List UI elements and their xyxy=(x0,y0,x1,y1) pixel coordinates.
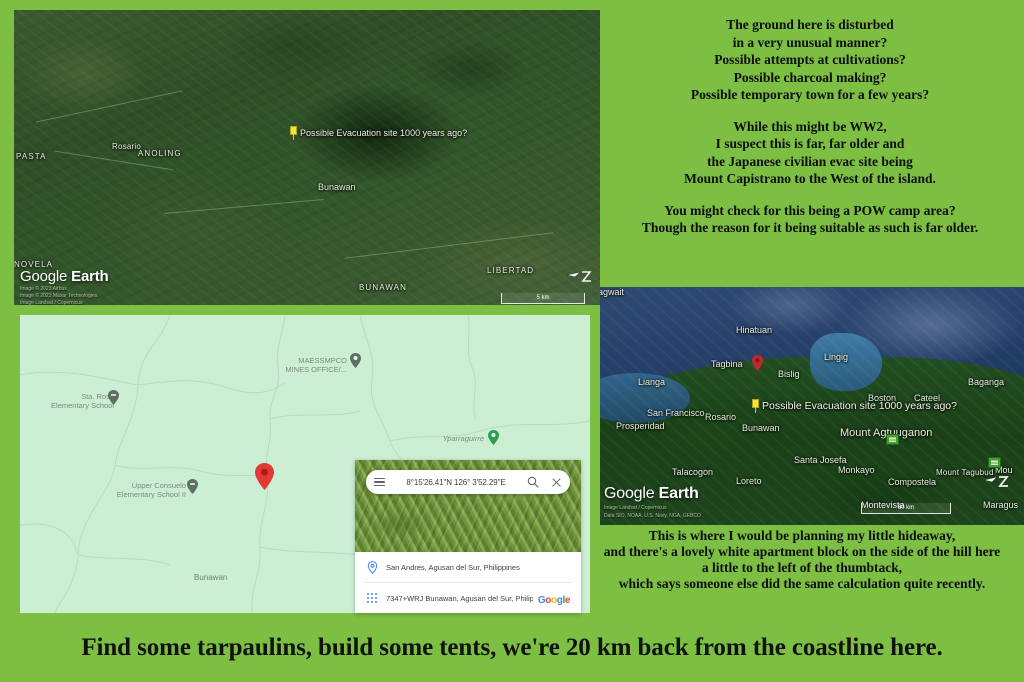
annotation-line: Though the reason for it being suitable … xyxy=(596,219,1024,237)
attribution-line-1: Image © 2023 Airbus xyxy=(20,286,67,293)
annotation-line: Possible attempts at cultivations? xyxy=(596,51,1024,69)
annotation-line: While this might be WW2, xyxy=(596,118,1024,136)
page-root: PASTA Rosario ANOLING Bunawan NOVELA BUN… xyxy=(0,0,1024,682)
photo-overlay-icon[interactable] xyxy=(886,434,899,445)
bottom-caption: Find some tarpaulins, build some tents, … xyxy=(0,634,1024,662)
annotation-line: Possible charcoal making? xyxy=(596,69,1024,87)
evacuation-site-label: Possible Evacuation site 1000 years ago? xyxy=(762,400,957,412)
clear-search-icon[interactable] xyxy=(551,477,562,488)
evacuation-site-label: Possible Evacuation site 1000 years ago? xyxy=(300,128,467,138)
google-earth-logo-top: Google Earth xyxy=(20,268,108,285)
google-earth-satellite-map-right[interactable]: agwait Hinatuan Lianga Tagbina Bislig Li… xyxy=(600,287,1024,525)
gray-location-pin-icon[interactable] xyxy=(108,390,119,405)
attribution-line-2-right: Data SIO, NOAA, U.S. Navy, NGA, GEBCO xyxy=(604,513,701,520)
annotation-text-bottom: This is where I would be planning my lit… xyxy=(580,528,1024,592)
poi-label-upper-consuelo-school: Upper Consuelo Elementary School II xyxy=(82,481,186,499)
evacuation-site-marker-right[interactable]: Possible Evacuation site 1000 years ago? xyxy=(751,399,957,413)
annotation-line: the Japanese civilian evac site being xyxy=(596,153,1024,171)
yellow-thumbtack-icon xyxy=(751,399,760,413)
paragraph-spacer xyxy=(596,188,1024,202)
suggestion-row-san-andres[interactable]: San Andres, Agusan del Sur, Philippines xyxy=(355,552,581,582)
annotation-text-top: The ground here is disturbed in a very u… xyxy=(596,16,1024,237)
google-earth-satellite-map-top[interactable]: PASTA Rosario ANOLING Bunawan NOVELA BUN… xyxy=(14,10,600,305)
map-scale-bar-top: 5 km xyxy=(501,293,585,304)
paragraph-spacer xyxy=(596,104,1024,118)
annotation-line: Mount Capistrano to the West of the isla… xyxy=(596,170,1024,188)
google-earth-logo-right: Google Earth xyxy=(604,485,699,503)
evacuation-site-marker-top[interactable]: Possible Evacuation site 1000 years ago? xyxy=(289,126,467,140)
search-input[interactable]: 8°15'26.41"N 126° 3'52.29"E xyxy=(385,478,527,487)
annotation-line: This is where I would be planning my lit… xyxy=(580,528,1024,544)
yellow-thumbtack-icon xyxy=(289,126,298,140)
photo-overlay-icon[interactable] xyxy=(988,457,1001,468)
attribution-line-2: Image © 2023 Maxar Technologies xyxy=(20,293,97,300)
annotation-line: You might check for this being a POW cam… xyxy=(596,202,1024,220)
poi-label-bunawan: Bunawan xyxy=(194,573,264,582)
red-location-pin-icon[interactable] xyxy=(752,355,763,371)
annotation-line: Possible temporary town for a few years? xyxy=(596,86,1024,104)
compass-icon[interactable] xyxy=(983,473,1009,491)
annotation-line: a little to the left of the thumbtack, xyxy=(580,560,1024,576)
suggestion-text: San Andres, Agusan del Sur, Philippines xyxy=(386,563,520,572)
plus-code-icon xyxy=(364,593,380,604)
search-icon[interactable] xyxy=(527,476,539,488)
gray-location-pin-icon[interactable] xyxy=(350,353,361,368)
poi-label-maessmpco: MAESSMPCO MINES OFFICE/... xyxy=(265,356,347,374)
google-maps-search-card[interactable]: 8°15'26.41"N 126° 3'52.29"E Google San A… xyxy=(355,460,581,613)
gray-location-pin-icon[interactable] xyxy=(187,479,198,494)
green-location-pin-icon[interactable] xyxy=(488,430,499,445)
compass-icon[interactable] xyxy=(566,268,592,286)
suggestion-text: 7347+WRJ Bunawan, Agusan del Sur, Philip… xyxy=(386,594,552,603)
annotation-line: in a very unusual manner? xyxy=(596,34,1024,52)
annotation-line: The ground here is disturbed xyxy=(596,16,1024,34)
attribution-line-3: Image Landsat / Copernicus xyxy=(20,300,83,305)
selected-location-red-pin-icon[interactable] xyxy=(255,463,274,490)
map-scale-bar-right: 60 km xyxy=(861,503,951,514)
annotation-line: which says someone else did the same cal… xyxy=(580,576,1024,592)
annotation-line: I suspect this is far, far older and xyxy=(596,135,1024,153)
search-bar[interactable]: 8°15'26.41"N 126° 3'52.29"E xyxy=(366,470,570,494)
poi-label-sta-rosa-school: Sta. Rosa Elementary School xyxy=(20,392,114,410)
google-logo: Google xyxy=(533,593,575,608)
poi-label-yparraguirre: Yparraguirre xyxy=(420,434,484,443)
attribution-line-1-right: Image Landsat / Copernicus xyxy=(604,505,667,512)
location-pin-icon xyxy=(364,561,380,574)
hamburger-menu-icon[interactable] xyxy=(374,478,385,487)
annotation-line: and there's a lovely white apartment blo… xyxy=(580,544,1024,560)
